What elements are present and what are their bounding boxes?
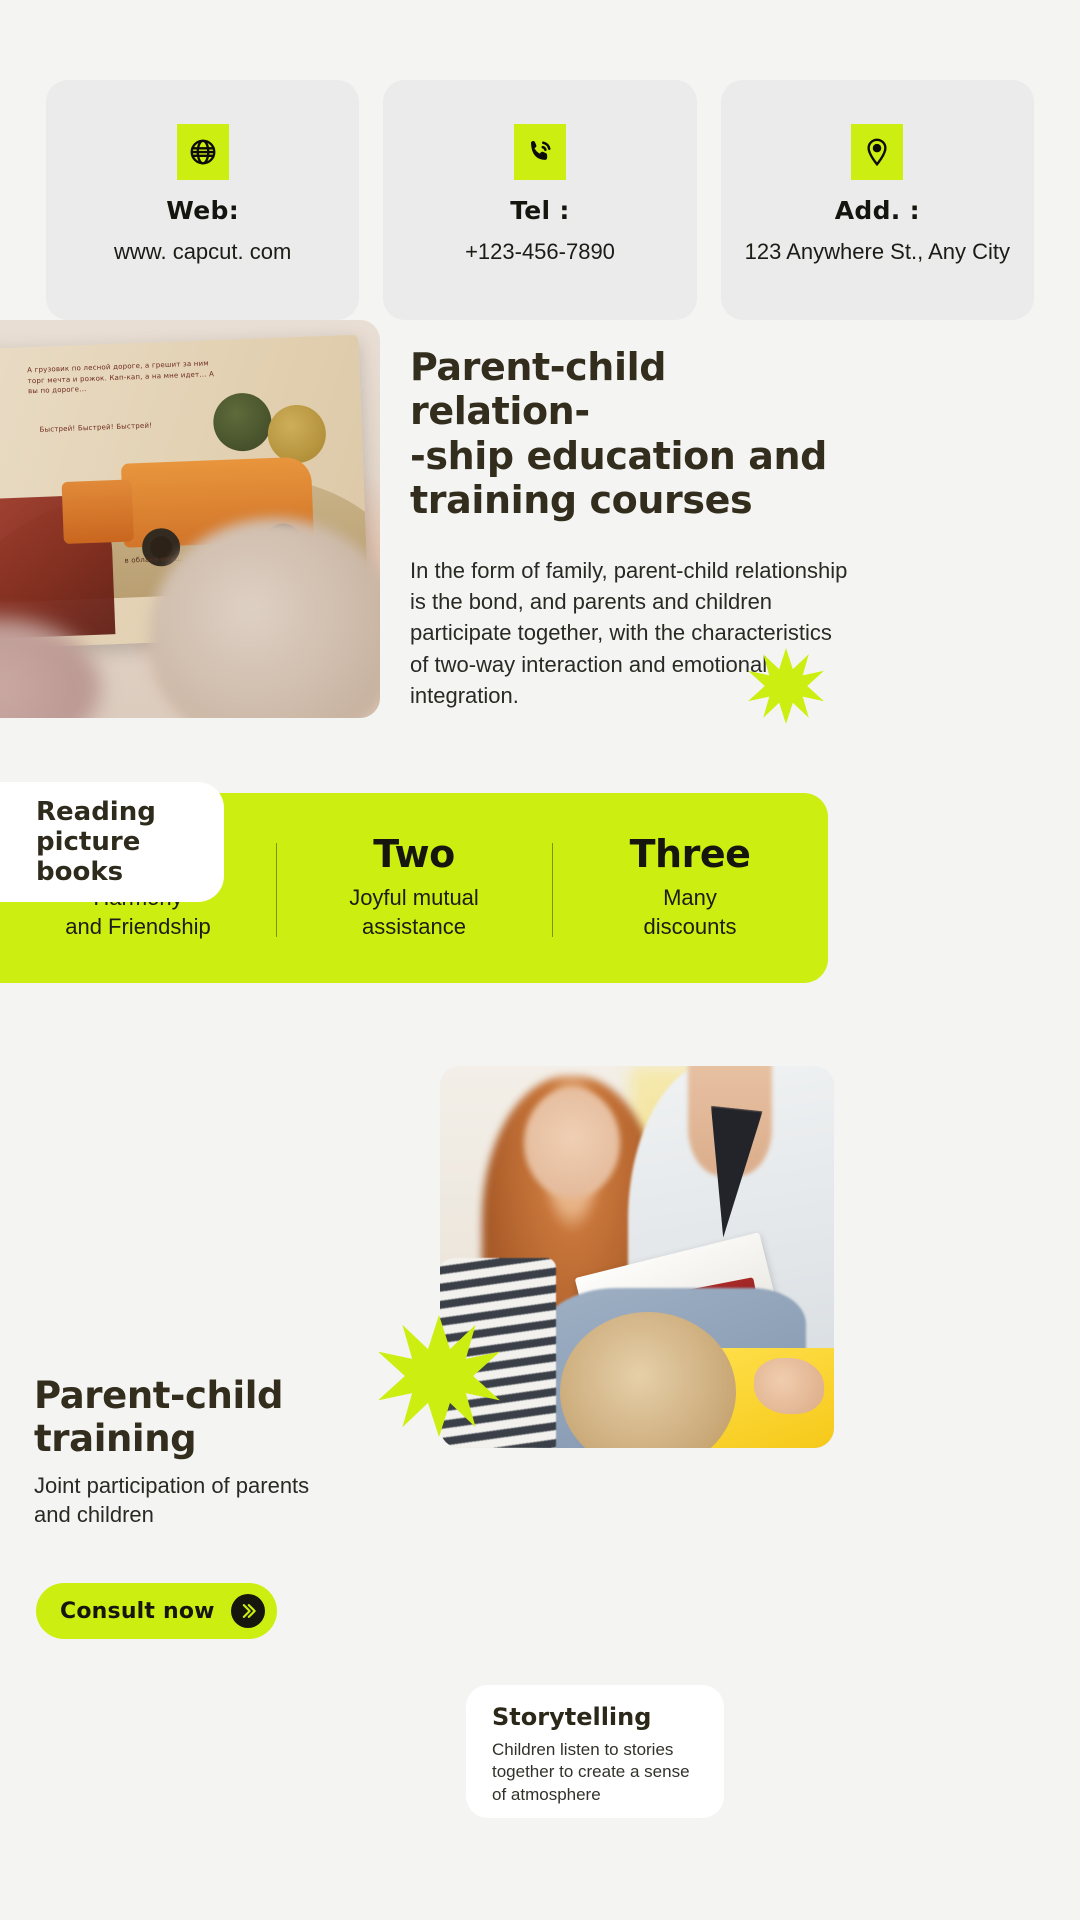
- storytelling-title: Storytelling: [492, 1703, 702, 1731]
- benefit-number: Three: [552, 835, 828, 875]
- contact-card-web[interactable]: Web: www. capcut. com: [46, 80, 359, 320]
- consult-now-label: Consult now: [60, 1599, 215, 1624]
- poster-page: Web: www. capcut. com Tel : +123-456-789…: [0, 0, 1080, 1920]
- double-chevron-right-icon: [231, 1594, 265, 1628]
- hero-photo-caption-card: Reading picture books: [0, 782, 224, 902]
- location-pin-icon: [851, 124, 903, 180]
- hero-photo: А грузовик по лесной дороге, а грешит за…: [0, 320, 380, 718]
- benefit-item-three: Three Many discounts: [552, 835, 828, 941]
- contact-label: Add. :: [835, 196, 920, 225]
- bottom-section-title: Parent-child training: [34, 1375, 424, 1461]
- contact-label: Tel :: [510, 196, 569, 225]
- starburst-icon: [378, 1315, 500, 1437]
- consult-now-button[interactable]: Consult now: [36, 1583, 277, 1639]
- phone-icon: [514, 124, 566, 180]
- globe-icon: [177, 124, 229, 180]
- bottom-section-subtitle: Joint participation of parents and child…: [34, 1471, 424, 1529]
- storytelling-card: Storytelling Children listen to stories …: [466, 1685, 724, 1818]
- contact-value: www. capcut. com: [114, 239, 291, 265]
- page-title: Parent-child relation- -ship education a…: [410, 345, 850, 523]
- contact-card-address[interactable]: Add. : 123 Anywhere St., Any City: [721, 80, 1034, 320]
- contact-card-tel[interactable]: Tel : +123-456-7890: [383, 80, 696, 320]
- contact-value: +123-456-7890: [465, 239, 615, 265]
- benefit-description: Many discounts: [552, 883, 828, 942]
- benefit-description: Joyful mutual assistance: [276, 883, 552, 942]
- bottom-text-block: Parent-child training Joint participatio…: [34, 1375, 424, 1529]
- contact-label: Web:: [166, 196, 239, 225]
- contact-value: 123 Anywhere St., Any City: [745, 239, 1010, 265]
- benefit-number: Two: [276, 835, 552, 875]
- storytelling-description: Children listen to stories together to c…: [492, 1739, 702, 1806]
- benefit-item-two: Two Joyful mutual assistance: [276, 835, 552, 941]
- hero-photo-caption: Reading picture books: [36, 797, 224, 887]
- contact-strip: Web: www. capcut. com Tel : +123-456-789…: [46, 80, 1034, 320]
- starburst-icon: [748, 648, 824, 724]
